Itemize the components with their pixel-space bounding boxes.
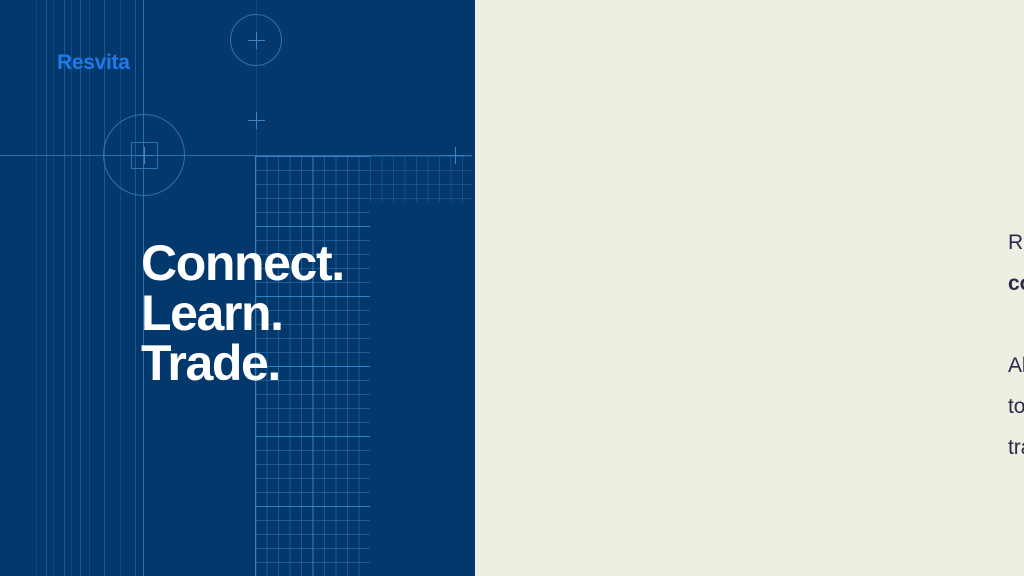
construction-vertical-line <box>89 0 90 576</box>
slide-canvas: Resvita Connect. Learn. Trade. Resvita h… <box>0 0 1024 576</box>
body-paragraph-2: Alongside partnering, building and growi… <box>1008 345 1024 468</box>
body-paragraph-1-lead: Resvita has created a space for tradies … <box>1008 231 1024 254</box>
construction-vertical-line <box>46 0 47 576</box>
page-title: Connect. Learn. Trade. <box>141 238 344 388</box>
headline-line-2: Learn. <box>141 288 344 338</box>
construction-vertical-line <box>36 0 37 576</box>
crosshair-icon <box>447 147 464 164</box>
body-copy: Resvita has created a space for tradies … <box>1008 222 1024 468</box>
crosshair-icon <box>136 147 153 164</box>
construction-vertical-line <box>64 0 65 576</box>
crosshair-icon <box>248 32 265 49</box>
construction-vertical-line <box>120 0 121 576</box>
construction-vertical-line <box>53 0 54 576</box>
left-blueprint-panel: Resvita Connect. Learn. Trade. <box>0 0 475 576</box>
body-paragraph-1: Resvita has created a space for tradies … <box>1008 222 1024 304</box>
construction-vertical-line <box>80 0 81 576</box>
headline-line-3: Trade. <box>141 338 344 388</box>
construction-vertical-line <box>135 0 136 576</box>
construction-vertical-line <box>104 0 105 576</box>
right-content-panel: Resvita has created a space for tradies … <box>475 0 1024 576</box>
crosshair-icon <box>248 112 265 129</box>
body-paragraph-1-emphasis: connect, learn and trade. <box>1008 272 1024 295</box>
headline-line-1: Connect. <box>141 238 344 288</box>
resvita-logo-wordmark[interactable]: Resvita <box>57 52 130 73</box>
construction-vertical-line <box>71 0 72 576</box>
